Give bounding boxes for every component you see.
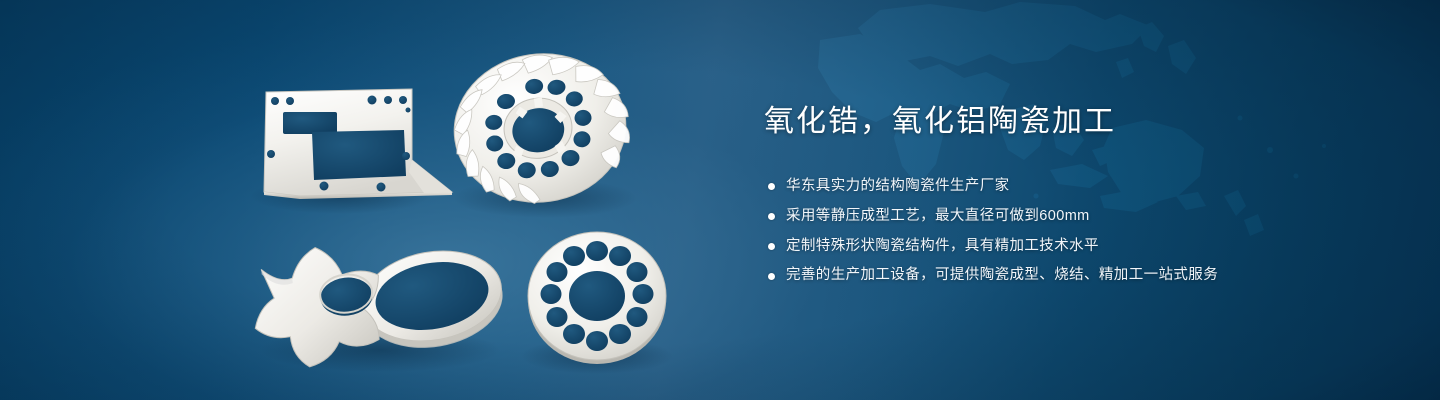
hero-banner: 氧化锆，氧化铝陶瓷加工 华东具实力的结构陶瓷件生产厂家 采用等静压成型工艺，最大… <box>0 0 1440 400</box>
list-item-label: 华东具实力的结构陶瓷件生产厂家 <box>786 176 1010 198</box>
list-item: 采用等静压成型工艺，最大直径可做到600mm <box>768 206 1364 228</box>
bullet-dot-icon <box>768 213 775 220</box>
bullet-dot-icon <box>768 183 775 190</box>
list-item: 定制特殊形状陶瓷结构件，具有精加工技术水平 <box>768 236 1364 258</box>
list-item: 完善的生产加工设备，可提供陶瓷成型、烧结、精加工一站式服务 <box>768 265 1364 287</box>
bullet-dot-icon <box>768 243 775 250</box>
list-item-label: 完善的生产加工设备，可提供陶瓷成型、烧结、精加工一站式服务 <box>786 265 1218 287</box>
feature-list: 华东具实力的结构陶瓷件生产厂家 采用等静压成型工艺，最大直径可做到600mm 定… <box>768 176 1364 287</box>
bullet-dot-icon <box>768 273 775 280</box>
list-item: 华东具实力的结构陶瓷件生产厂家 <box>768 176 1364 198</box>
list-item-label: 采用等静压成型工艺，最大直径可做到600mm <box>786 206 1090 228</box>
ceramic-perforated-ring-shape <box>528 232 666 364</box>
banner-copy: 氧化锆，氧化铝陶瓷加工 华东具实力的结构陶瓷件生产厂家 采用等静压成型工艺，最大… <box>764 104 1364 287</box>
list-item-label: 定制特殊形状陶瓷结构件，具有精加工技术水平 <box>786 236 1099 258</box>
product-image-collage <box>0 0 720 400</box>
page-title: 氧化锆，氧化铝陶瓷加工 <box>764 104 1364 140</box>
ceramic-machined-plate-shape <box>264 89 452 199</box>
